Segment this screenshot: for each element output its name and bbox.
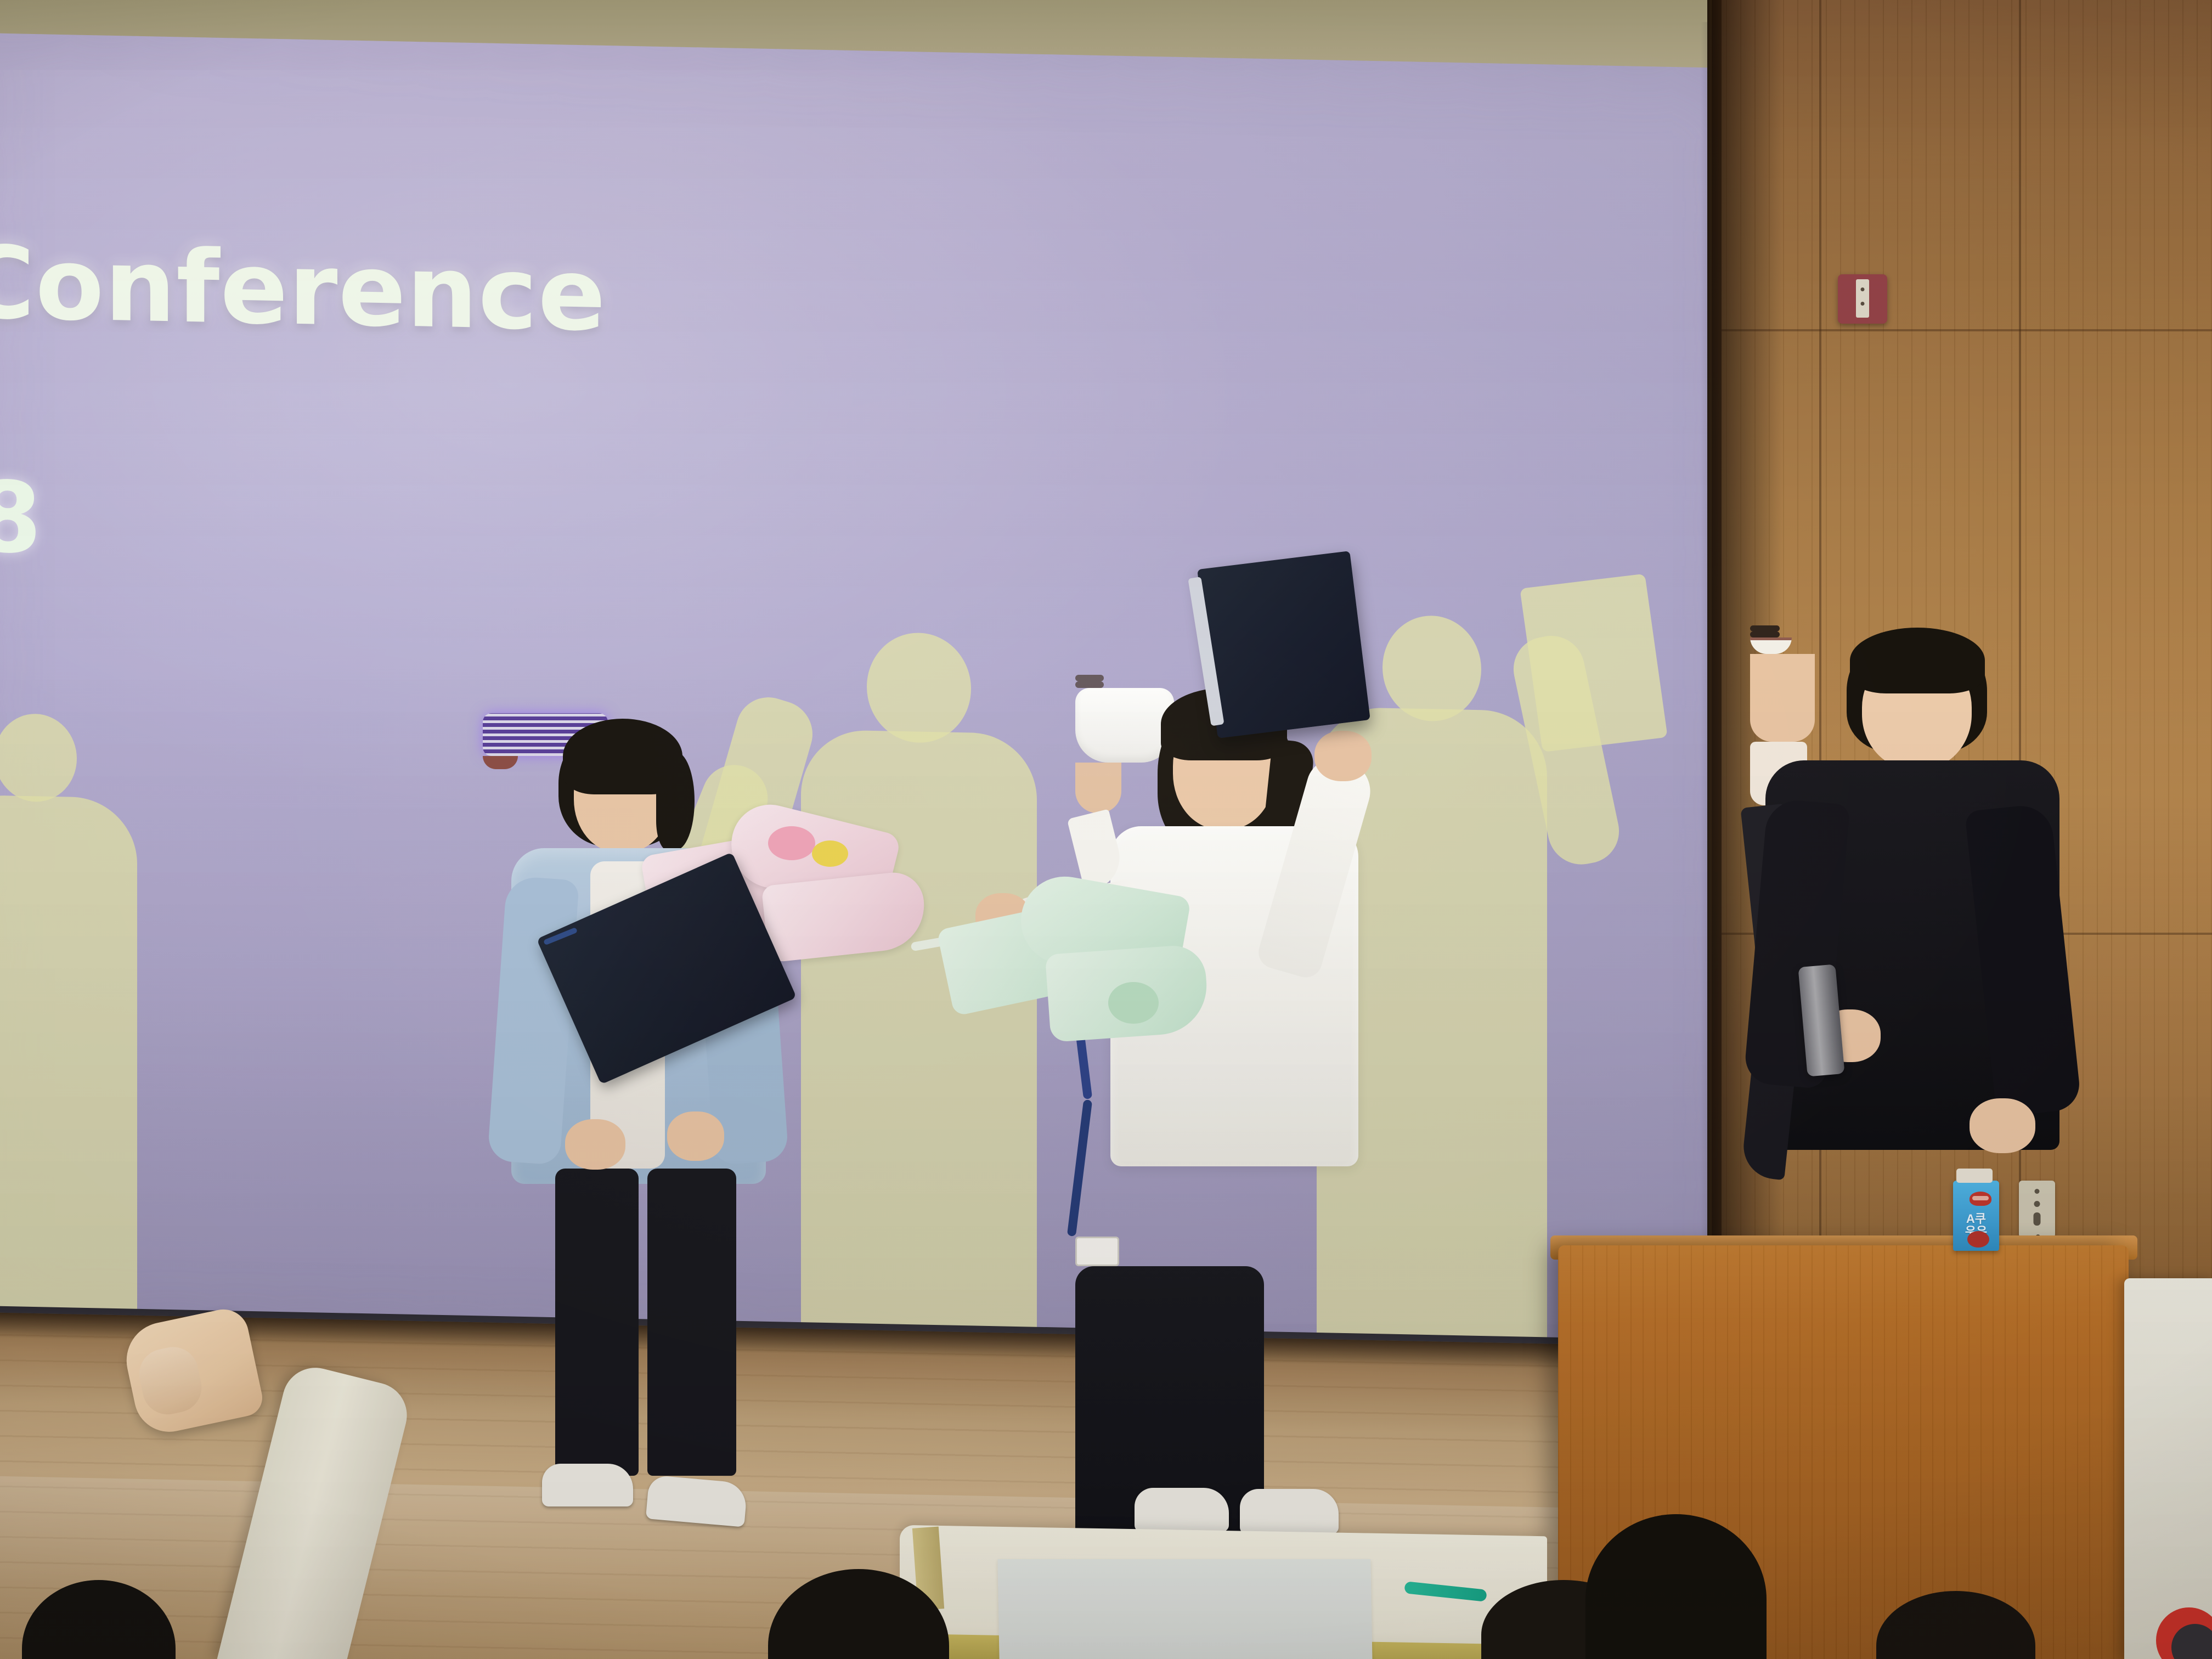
right-sneaker: [1240, 1489, 1339, 1534]
berry-graphic-icon: [1967, 1231, 1989, 1248]
face-mask-icon: [1075, 688, 1174, 763]
right-hand: [667, 1111, 724, 1161]
left-sneaker: [1135, 1488, 1229, 1532]
projection-screen: [0, 33, 1750, 1369]
carton-cap: [1956, 1169, 1993, 1183]
heart-logo-icon: [1970, 1192, 1991, 1206]
hair-fringe-icon: [1850, 628, 1985, 693]
paper-sheet: [997, 1559, 1372, 1659]
neckline: [1075, 763, 1121, 813]
screen-vignette: [0, 33, 1750, 1369]
lower-hand: [1970, 1098, 2035, 1153]
fire-alarm-icon: [1838, 274, 1887, 324]
right-eye: [1750, 631, 1780, 637]
screen-glow: [0, 33, 1750, 1369]
smiling-mouth: [1750, 637, 1792, 654]
right-eye: [1075, 681, 1104, 688]
certificate-folder-raised: [1197, 551, 1370, 738]
drink-carton: A쿠 우유: [1953, 1181, 1999, 1251]
left-eye: [1750, 625, 1780, 631]
mint-bouquet: [944, 867, 1207, 1048]
pink-flower-icon: [768, 826, 815, 860]
student-center-recipient: [1075, 675, 1415, 1564]
raised-hand: [1314, 731, 1372, 781]
drink-label-line1: A쿠: [1966, 1212, 1986, 1226]
neck: [1750, 654, 1815, 742]
left-eye: [1075, 675, 1104, 681]
left-leg: [555, 1169, 639, 1476]
auditorium-stage-photo: Conference 8: [0, 0, 2212, 1659]
yellow-flower-icon: [812, 840, 848, 867]
left-sneaker: [542, 1464, 633, 1506]
smiling-mouth: [483, 756, 518, 769]
left-hand: [565, 1119, 625, 1170]
right-leg: [647, 1169, 736, 1476]
side-white-panel: [2124, 1278, 2212, 1659]
id-badge: [1075, 1237, 1119, 1266]
mint-flower-icon: [1108, 982, 1159, 1024]
right-sneaker: [646, 1475, 748, 1527]
host-speaker: [1750, 625, 2090, 1284]
